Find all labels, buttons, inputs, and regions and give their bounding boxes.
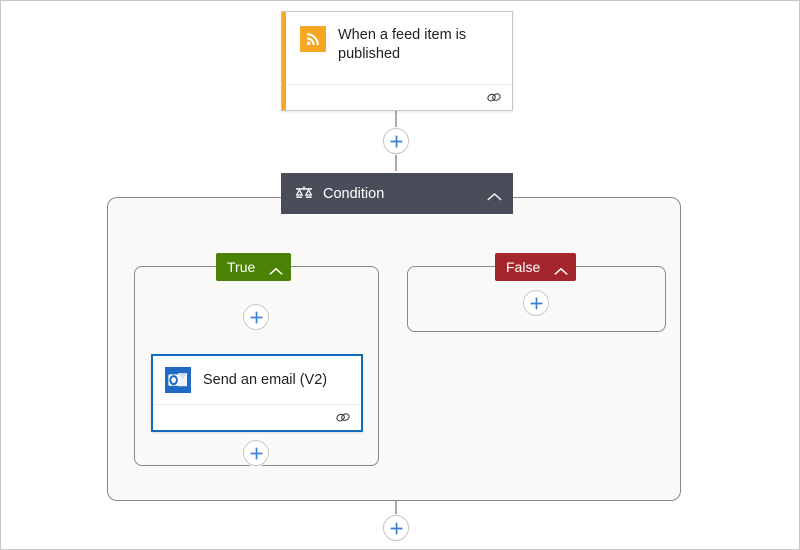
action-card-title: Send an email (V2) [203,371,327,390]
chevron-up-icon[interactable] [554,263,568,272]
rss-icon [300,26,326,52]
condition-icon [295,186,313,202]
trigger-card-title: When a feed item is published [338,26,498,64]
outlook-icon [165,367,191,393]
branch-chip-false[interactable]: False [495,253,576,281]
plus-icon [249,310,264,325]
branch-chip-false-label: False [506,259,540,275]
chevron-up-icon[interactable] [269,263,283,272]
add-step-true-top[interactable] [243,304,269,330]
link-chain-icon[interactable] [486,91,502,104]
action-card-send-email[interactable]: Send an email (V2) [151,354,363,432]
add-step-false[interactable] [523,290,549,316]
branch-chip-true-label: True [227,259,255,275]
condition-title: Condition [323,186,477,202]
plus-icon [249,446,264,461]
flow-designer-canvas[interactable]: When a feed item is published Condition [0,0,800,550]
action-card-footer [153,404,361,430]
plus-icon [389,134,404,149]
trigger-accent-bar [282,12,286,110]
add-step-after-trigger[interactable] [383,128,409,154]
add-step-after-scope[interactable] [383,515,409,541]
plus-icon [389,521,404,536]
branch-chip-true[interactable]: True [216,253,291,281]
trigger-card-rss[interactable]: When a feed item is published [281,11,513,111]
trigger-card-footer [282,84,512,110]
chevron-up-icon[interactable] [487,189,501,198]
plus-icon [529,296,544,311]
add-step-true-bottom[interactable] [243,440,269,466]
link-chain-icon[interactable] [335,411,351,424]
condition-card-header[interactable]: Condition [281,173,513,214]
